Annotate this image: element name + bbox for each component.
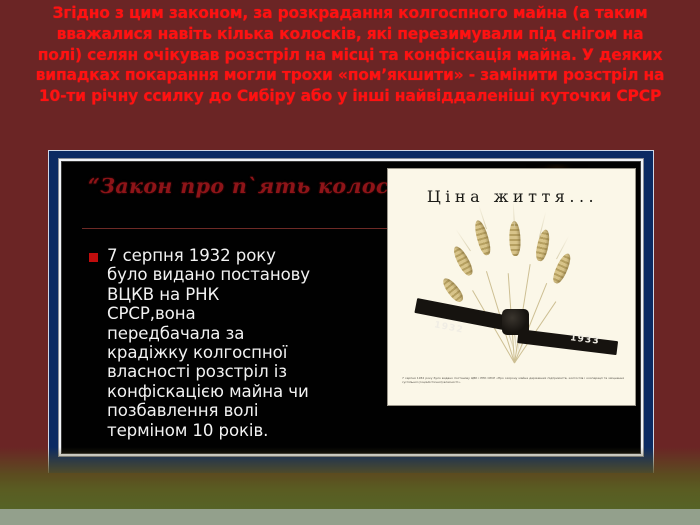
wheat-ribbon-artwork: 1932 1933 [422,217,608,367]
bullet-marker-icon [89,253,98,262]
mourning-ribbon-right [517,329,618,355]
slide-title: “Закон про п`ять колосків” [88,174,437,198]
footer-band-gray [0,509,700,525]
mourning-ribbon-knot [502,309,529,335]
mourning-ribbon-left [414,298,515,332]
wheat-ear [509,221,521,256]
footer-band-olive [0,473,700,509]
wheat-ear [472,219,492,257]
slide-frame: “Закон про п`ять колосків” 7 серпня 1932… [49,151,653,495]
bullet-item: 7 серпня 1932 року було видано постанову… [89,246,374,440]
wheat-ear [451,244,476,277]
page-headline: Згідно з цим законом, за розкрадання кол… [33,3,667,107]
slide-page: Згідно з цим законом, за розкрадання кол… [0,0,700,525]
footer-band-fade [0,447,700,473]
wheat-ear [550,252,573,286]
wheat-ear [534,229,551,263]
photo-fineprint: 7 серпня 1932 року було видано постанову… [402,376,624,384]
bullet-text: 7 серпня 1932 року було видано постанову… [107,246,310,440]
ribbon-year-start: 1932 [433,320,464,336]
slide-canvas: “Закон про п`ять колосків” 7 серпня 1932… [62,162,640,453]
photo-panel: Ціна життя... [387,168,636,406]
wheat-ear [440,276,466,305]
